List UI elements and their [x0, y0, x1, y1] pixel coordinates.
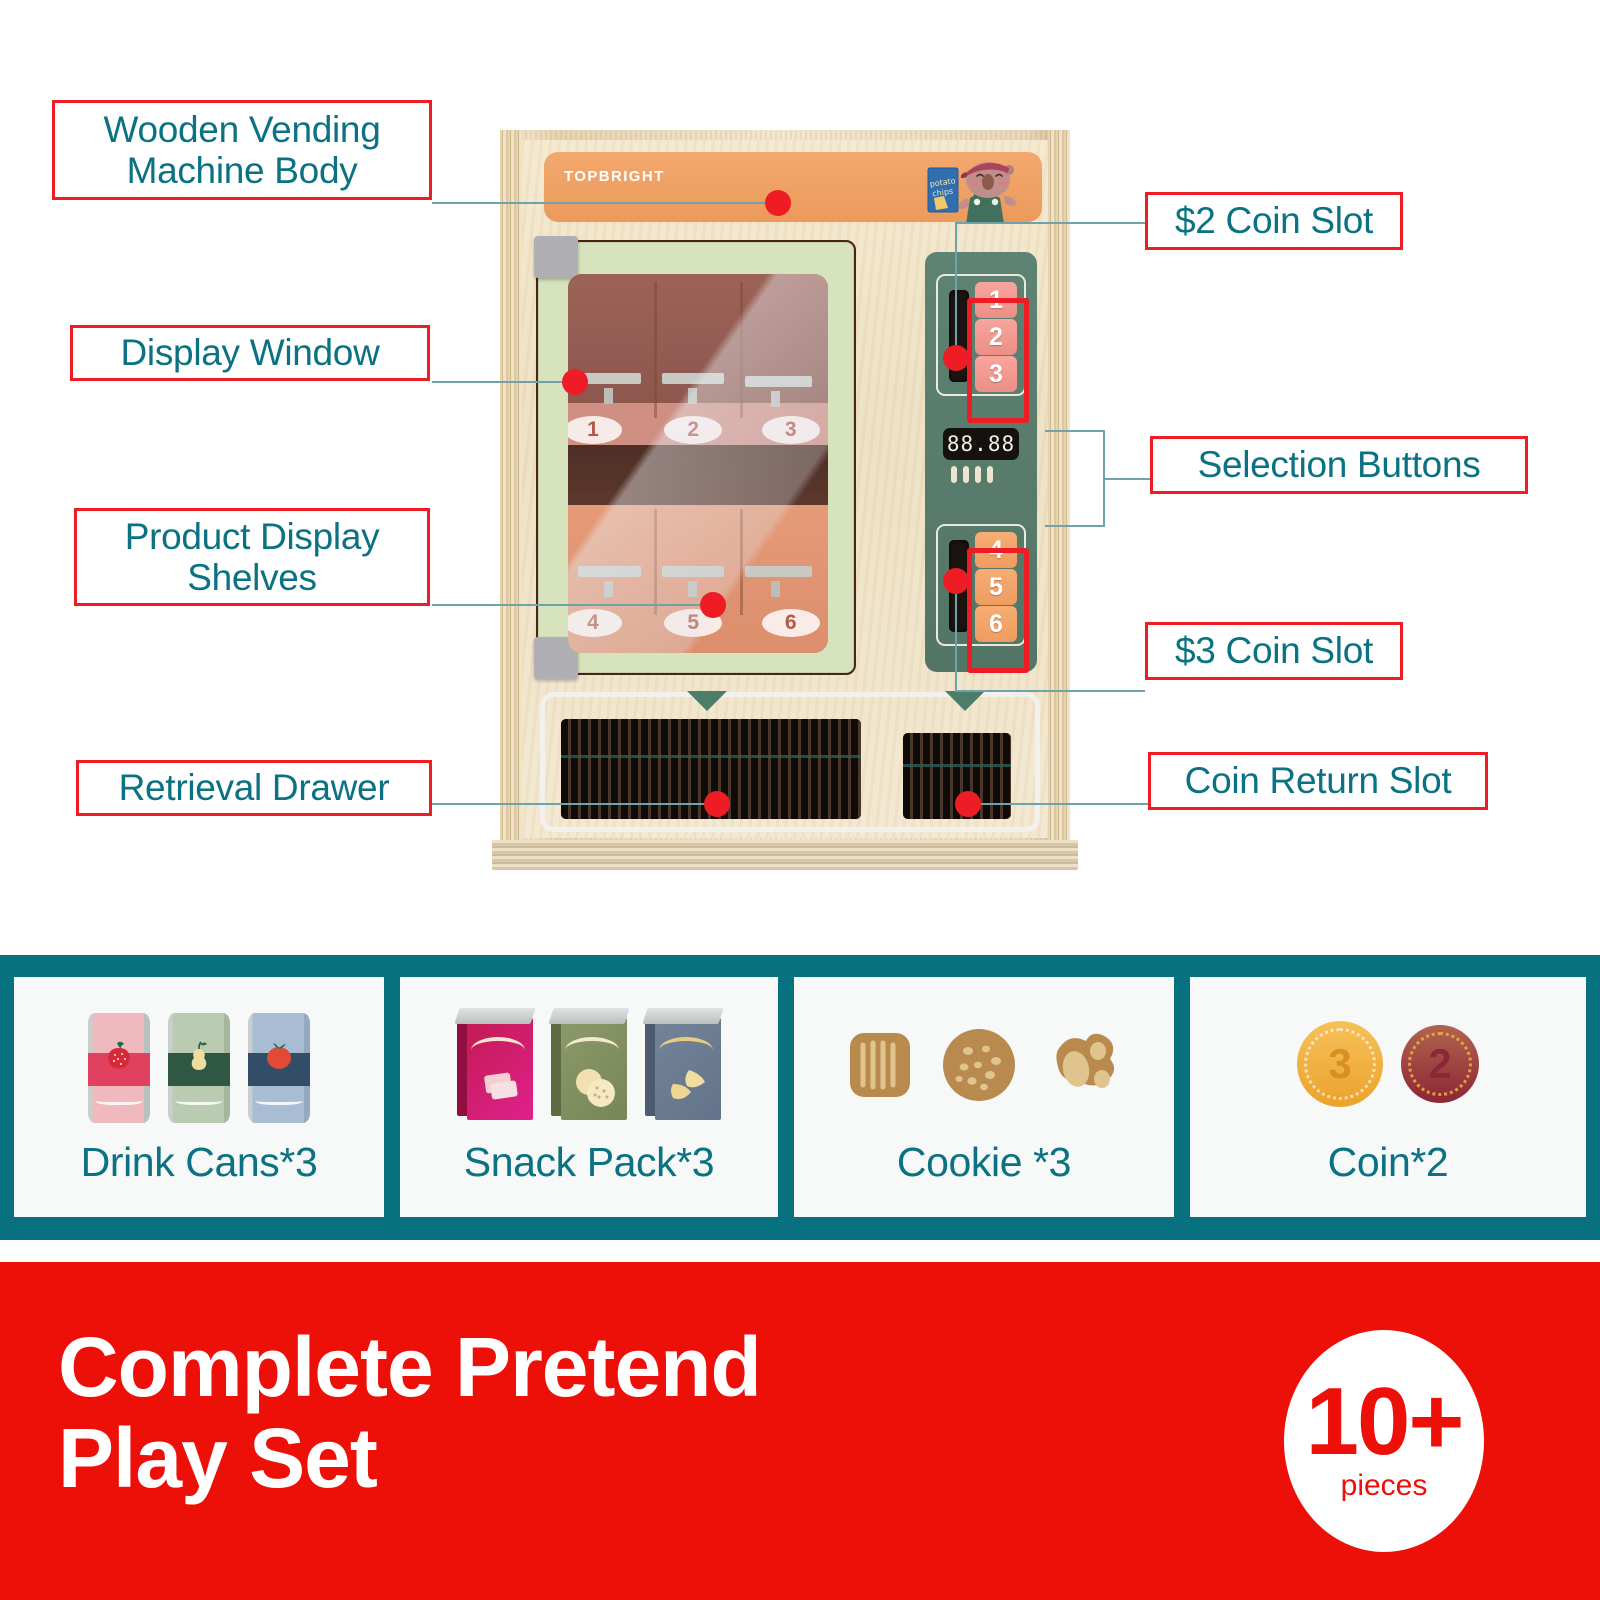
connector-retrieval-drawer	[432, 803, 715, 805]
callout-retrieval-drawer: Retrieval Drawer	[76, 760, 432, 816]
product-label-snack-pack: Snack Pack*3	[464, 1139, 714, 1186]
anchor-dot-coin-slot-3	[943, 568, 969, 594]
product-card-snack-pack: Snack Pack*3	[400, 977, 778, 1217]
product-label-cookie: Cookie *3	[897, 1139, 1071, 1186]
callout-coin-slot-3: $3 Coin Slot	[1145, 622, 1403, 680]
product-card-drink-cans: Drink Cans*3	[14, 977, 384, 1217]
callout-label-line1: Wooden Vending	[104, 109, 381, 150]
callout-label: $3 Coin Slot	[1175, 630, 1373, 671]
highlight-buttons-upper	[967, 298, 1029, 423]
pear-can-icon	[168, 1005, 230, 1123]
snack-pack-art	[457, 989, 721, 1139]
chevron-down-icon	[687, 691, 727, 711]
led-bar	[975, 466, 981, 483]
led-price-display: 88.88	[943, 428, 1019, 460]
coin-art: 3 2	[1297, 989, 1479, 1139]
connector-coin-slot-3-v	[955, 580, 957, 690]
callout-wooden-vending-machine-body: Wooden VendingMachine Body	[52, 100, 432, 200]
product-card-coin: 3 2 Coin*2	[1190, 977, 1586, 1217]
pieces-badge-label: pieces	[1341, 1469, 1428, 1503]
connector-coin-slot-3-h	[955, 690, 1145, 692]
gold-coin-icon: 3	[1297, 1021, 1383, 1107]
biscuit-box-icon	[551, 1008, 627, 1120]
product-label-drink-cans: Drink Cans*3	[81, 1139, 318, 1186]
callout-label: $2 Coin Slot	[1175, 200, 1373, 241]
pieces-badge: 10+ pieces	[1284, 1330, 1484, 1552]
shelf-pusher	[578, 566, 640, 577]
striped-cookie-icon	[842, 1021, 918, 1107]
connector-wooden-body	[432, 202, 777, 204]
connector-coin-slot-2-h	[955, 222, 1145, 224]
led-bar	[951, 466, 957, 483]
chips-box-icon	[645, 1008, 721, 1120]
shelf-pusher-stem	[604, 388, 613, 404]
connector-shelves	[432, 604, 712, 606]
pieces-badge-number: 10+	[1306, 1379, 1463, 1465]
led-bar	[987, 466, 993, 483]
tomato-can-icon	[248, 1005, 310, 1123]
shelf-divider	[654, 509, 657, 615]
shelf-pusher-stem	[771, 391, 780, 407]
led-indicator-bars	[951, 466, 993, 483]
connector-coin-slot-2-v	[955, 222, 957, 357]
callout-coin-slot-2: $2 Coin Slot	[1145, 192, 1403, 250]
peanut-cookie-icon	[1040, 1021, 1126, 1107]
footer-title-line1: Complete Pretend	[58, 1320, 761, 1414]
shelf-pusher	[745, 376, 813, 387]
connector-selection-h	[1105, 478, 1151, 480]
brand-logo: TOPBRIGHT	[564, 168, 665, 185]
wood-edge-left	[500, 130, 522, 844]
shelf-pusher-stem	[604, 581, 613, 597]
led-bar	[963, 466, 969, 483]
drink-cans-art	[88, 989, 310, 1139]
shelf-pusher	[662, 373, 724, 384]
cookie-art	[842, 989, 1126, 1139]
shelf-pusher	[745, 566, 813, 577]
shelf-pusher-stem	[771, 581, 780, 597]
footer-title-line2: Play Set	[58, 1411, 377, 1505]
shelf-divider	[740, 509, 743, 615]
display-window-door: 1 2 3 4 5 6	[536, 240, 856, 675]
anchor-dot-display-window	[562, 369, 588, 395]
shelf-pusher-stem	[688, 388, 697, 404]
callout-label: Selection Buttons	[1198, 444, 1481, 485]
mascot-character-icon: potato chips	[926, 152, 1038, 222]
footer-title: Complete Pretend Play Set	[58, 1322, 761, 1503]
callout-coin-return-slot: Coin Return Slot	[1148, 752, 1488, 810]
wafer-box-icon	[457, 1008, 533, 1120]
footer-banner: Complete Pretend Play Set 10+ pieces	[0, 1262, 1600, 1600]
callout-label-line2: Shelves	[187, 557, 317, 598]
chevron-down-icon	[945, 691, 985, 711]
anchor-dot-retrieval-drawer	[704, 791, 730, 817]
infographic-canvas: Wooden VendingMachine Body Display Windo…	[0, 0, 1600, 1600]
product-card-cookie: Cookie *3	[794, 977, 1174, 1217]
shelf-divider	[740, 282, 743, 418]
callout-display-window: Display Window	[70, 325, 430, 381]
vending-machine-illustration: TOPBRIGHT potato chips	[500, 130, 1070, 870]
callout-selection-buttons: Selection Buttons	[1150, 436, 1528, 494]
callout-label: Coin Return Slot	[1185, 760, 1452, 801]
connector-selection-bracket	[1045, 430, 1105, 527]
red-coin-icon: 2	[1401, 1025, 1479, 1103]
product-contents-strip: Drink Cans*3	[0, 955, 1600, 1240]
strawberry-can-icon	[88, 1005, 150, 1123]
round-cookie-icon	[936, 1021, 1022, 1107]
callout-product-display-shelves: Product DisplayShelves	[74, 508, 430, 606]
product-label-coin: Coin*2	[1328, 1139, 1449, 1186]
callout-label: Display Window	[121, 332, 380, 373]
shelf-number-badge: 3	[762, 416, 820, 444]
door-hinge-top	[534, 236, 578, 278]
wood-base	[492, 840, 1078, 870]
anchor-dot-wooden-body	[765, 190, 791, 216]
anchor-dot-coin-slot-2	[943, 345, 969, 371]
shelf-divider	[654, 282, 657, 418]
display-window-glass: 1 2 3 4 5 6	[568, 274, 828, 653]
shelf-pusher	[662, 566, 724, 577]
connector-display-window	[432, 381, 572, 383]
shelf-pusher-stem	[688, 581, 697, 597]
anchor-dot-shelves	[700, 592, 726, 618]
callout-label: Retrieval Drawer	[119, 767, 390, 808]
callout-label-line1: Product Display	[125, 516, 380, 557]
anchor-dot-coin-return	[955, 791, 981, 817]
shelf-middle-gap	[568, 445, 828, 506]
connector-coin-return	[968, 803, 1148, 805]
highlight-buttons-lower	[967, 548, 1029, 673]
header-banner: TOPBRIGHT potato chips	[544, 152, 1042, 222]
callout-label-line2: Machine Body	[127, 150, 358, 191]
